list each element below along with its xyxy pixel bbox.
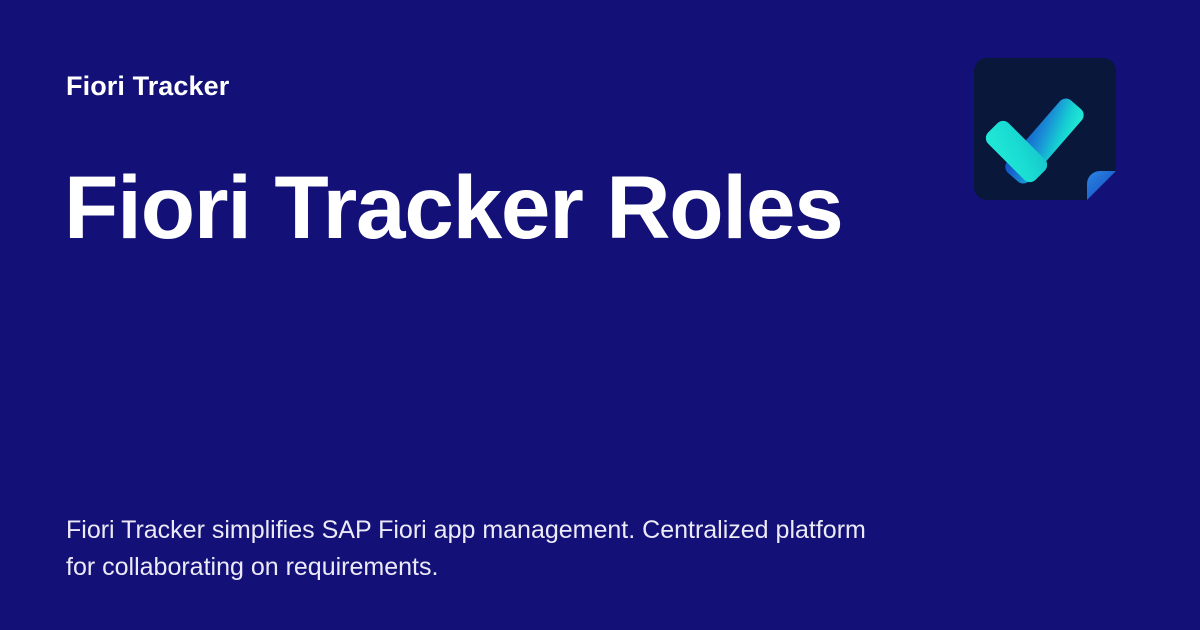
og-share-card: Fiori Tracker: [0, 0, 1200, 630]
app-logo: [974, 58, 1116, 200]
brand-name: Fiori Tracker: [66, 70, 229, 102]
page-title: Fiori Tracker Roles: [64, 160, 964, 254]
fiori-tracker-checkmark-logo: [974, 58, 1116, 200]
page-description: Fiori Tracker simplifies SAP Fiori app m…: [66, 512, 866, 586]
logo-page-fold: [1087, 171, 1116, 200]
